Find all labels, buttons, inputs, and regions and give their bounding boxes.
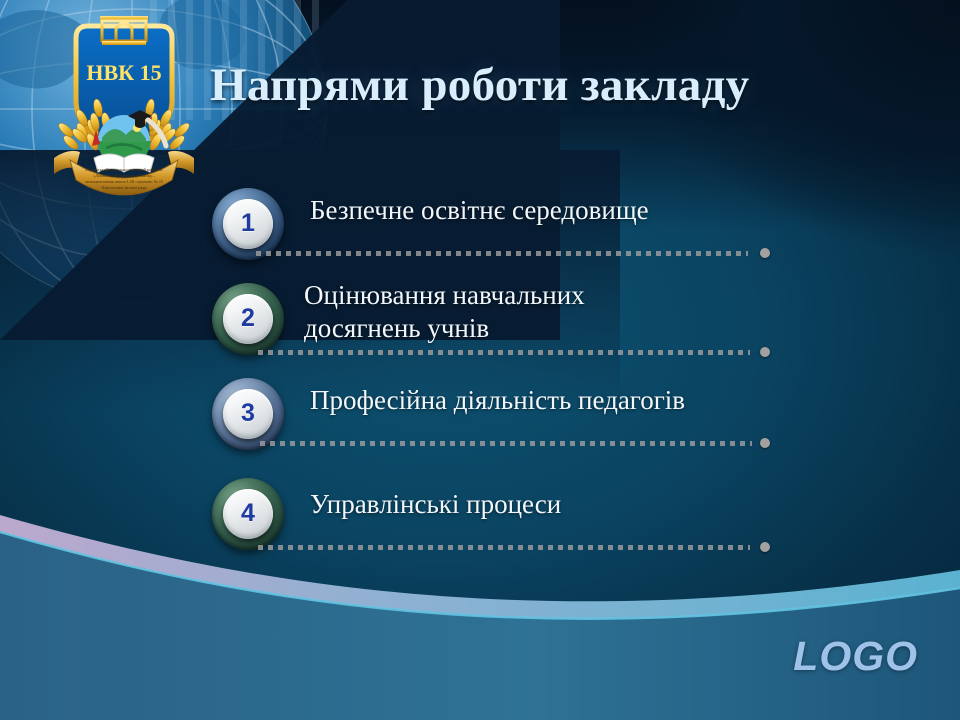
badge-number: 1 [241,211,255,236]
badge-inner-disc: 3 [223,389,273,439]
list-item-label-line1: Оцінювання навчальних [304,279,849,312]
dotted-line [258,350,750,355]
dotted-connector [258,349,768,355]
badge-number: 4 [241,501,255,526]
presentation-slide: НВК 15 [0,0,960,720]
connector-end-dot-icon [760,248,770,258]
list-item-label: Безпечне освітнє середовище [310,194,855,227]
badge-number: 3 [241,401,255,426]
dotted-connector [256,250,768,256]
connector-end-dot-icon [760,347,770,357]
list-item-label: Управлінські процеси [310,488,855,521]
logo-placeholder[interactable]: LOGO [793,633,918,680]
direction-list: 1 Безпечне освітнє середовище 2 Оцінюван… [0,0,960,720]
badge-inner-disc: 2 [223,294,273,344]
badge-number: 2 [241,306,255,331]
connector-end-dot-icon [760,438,770,448]
list-item-label: Оцінювання навчальних досягнень учнів [304,279,849,345]
dotted-connector [260,440,768,446]
dotted-line [258,545,750,550]
list-item-label: Професійна діяльність педагогів [310,384,855,417]
badge-inner-disc: 1 [223,199,273,249]
list-item-label-line2: досягнень учнів [304,312,849,345]
dotted-line [260,441,752,446]
badge-inner-disc: 4 [223,489,273,539]
step-badge-4[interactable]: 4 [212,478,284,550]
step-badge-2[interactable]: 2 [212,283,284,355]
dotted-line [256,251,748,256]
connector-end-dot-icon [760,542,770,552]
dotted-connector [258,544,768,550]
